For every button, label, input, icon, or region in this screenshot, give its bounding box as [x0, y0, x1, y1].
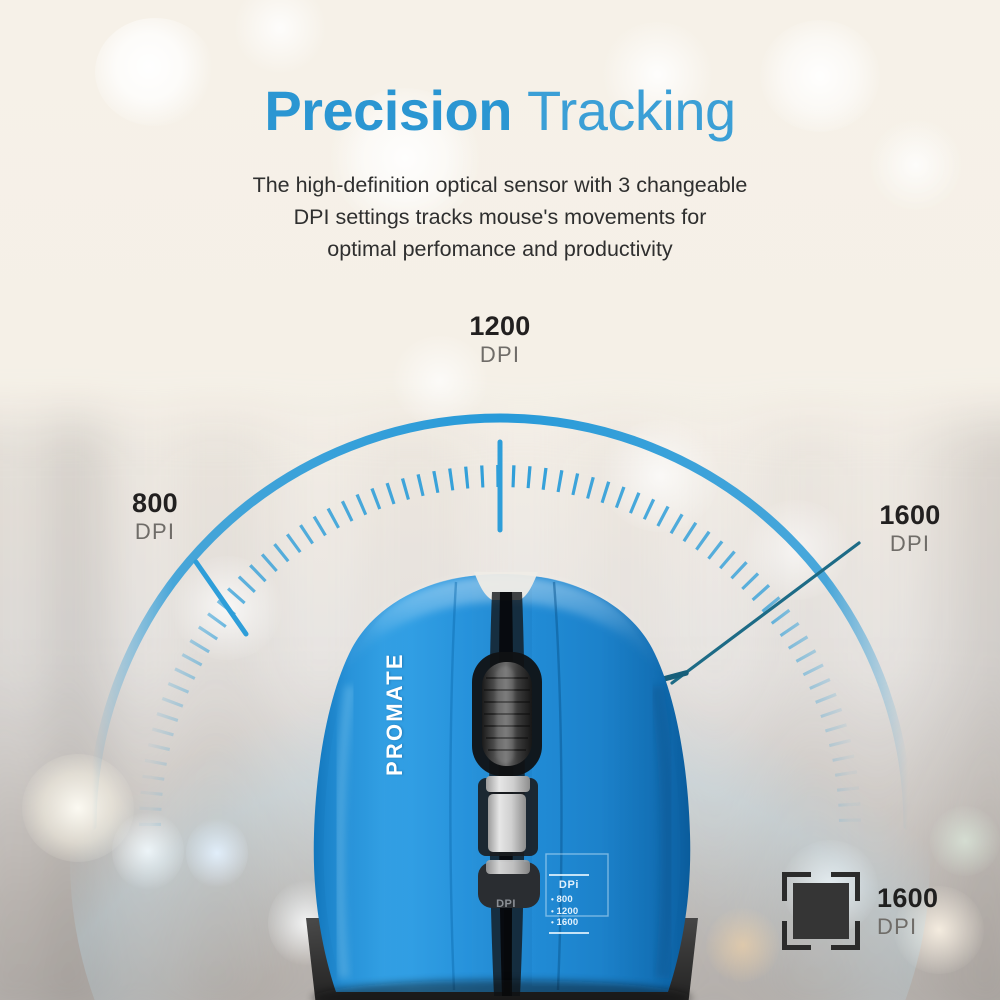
subtitle-line-1: The high-definition optical sensor with …	[150, 170, 850, 202]
dpi-plate-option: 1600	[551, 917, 589, 929]
gauge-label-1200-value: 1200	[430, 312, 570, 340]
resolution-badge-text: 1600 DPI	[877, 884, 938, 938]
crop-corner-top-left	[782, 872, 811, 901]
dpi-plate-option: 800	[551, 894, 589, 906]
scroll-wheel-highlight	[496, 666, 514, 764]
crop-corner-bottom-left	[782, 921, 811, 950]
page-title: Precision Tracking	[0, 82, 1000, 141]
gauge-label-1200: 1200 DPI	[430, 312, 570, 369]
subtitle: The high-definition optical sensor with …	[150, 170, 850, 265]
chrome-strip-top[interactable]	[486, 776, 530, 792]
dpi-button-label: DPI	[488, 898, 524, 910]
gauge-label-800-unit: DPI	[90, 519, 220, 545]
resolution-badge-value: 1600	[877, 884, 938, 912]
gauge-label-1200-unit: DPI	[430, 342, 570, 368]
product-mouse-image	[296, 566, 708, 1000]
resolution-badge: 1600 DPI	[782, 872, 938, 950]
dpi-plate-option: 1200	[551, 906, 589, 918]
dpi-plate-options: 800 1200 1600	[549, 894, 589, 929]
product-mouse-svg	[296, 566, 708, 1000]
marketing-banner: Precision Tracking The high-definition o…	[0, 0, 1000, 1000]
gauge-label-1600: 1600 DPI	[845, 501, 975, 558]
headline-light-word: Tracking	[527, 79, 736, 142]
crop-frame-icon	[782, 872, 860, 950]
dpi-plate-top-rule	[549, 874, 589, 876]
headline-bold-word: Precision	[264, 79, 512, 142]
dpi-plate-title: DPi	[549, 879, 589, 891]
subtitle-line-3: optimal perfomance and productivity	[150, 234, 850, 266]
crop-corner-bottom-right	[831, 921, 860, 950]
gauge-label-800-value: 800	[90, 489, 220, 517]
gauge-label-1600-value: 1600	[845, 501, 975, 529]
crop-corner-top-right	[831, 872, 860, 901]
chrome-strip-main[interactable]	[488, 794, 526, 852]
subtitle-line-2: DPI settings tracks mouse's movements fo…	[150, 202, 850, 234]
dpi-plate-bottom-rule	[549, 932, 589, 934]
dpi-button-chrome	[486, 860, 530, 874]
resolution-badge-unit: DPI	[877, 915, 938, 938]
brand-logo-promate: PROMATE	[382, 648, 412, 780]
dpi-spec-plate: DPi 800 1200 1600	[549, 874, 589, 930]
gauge-label-800: 800 DPI	[90, 489, 220, 546]
gauge-label-1600-unit: DPI	[845, 531, 975, 557]
